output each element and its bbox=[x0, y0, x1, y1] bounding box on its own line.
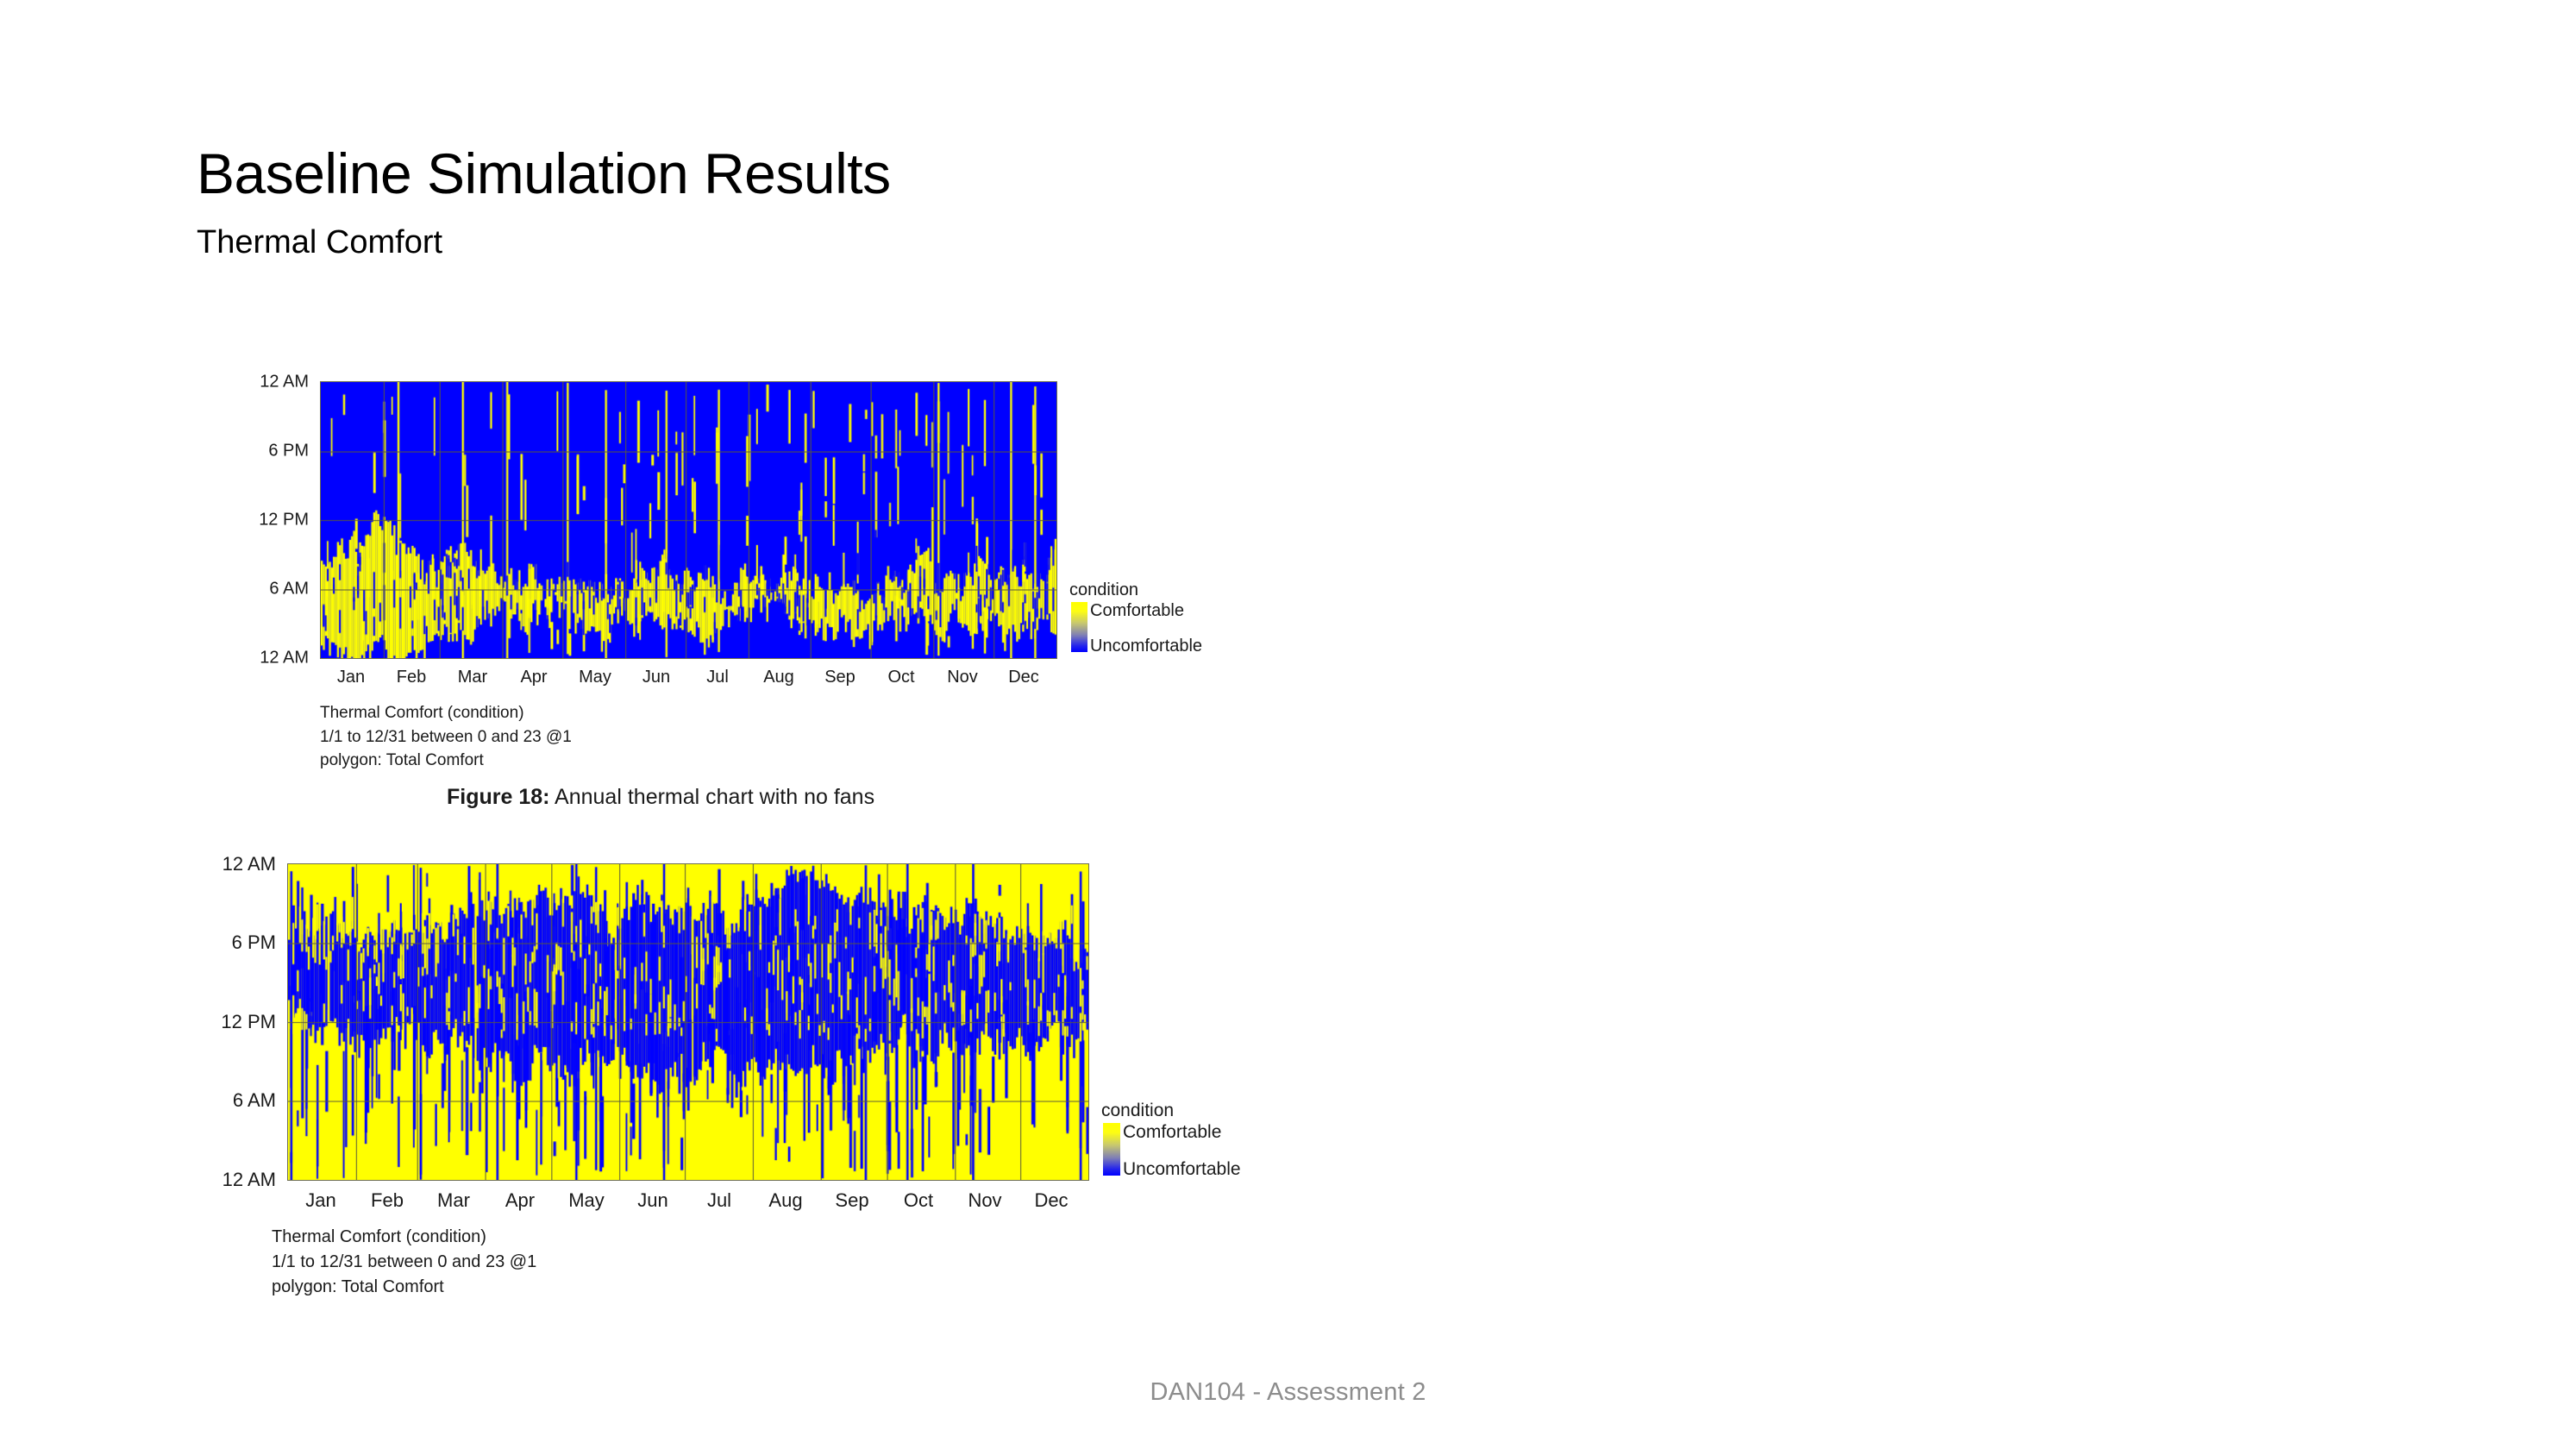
chart2-plot-area[interactable] bbox=[287, 863, 1089, 1181]
chart1-legend-label-comfortable: Comfortable bbox=[1090, 601, 1184, 621]
chart1-x-tick-jul: Jul bbox=[706, 668, 729, 687]
chart2-x-tick-dec: Dec bbox=[1034, 1189, 1068, 1212]
chart1-x-tick-apr: Apr bbox=[520, 668, 547, 687]
chart1-y-axis: 12 AM 6 PM 12 PM 6 AM 12 AM bbox=[197, 367, 309, 651]
chart2-x-tick-oct: Oct bbox=[904, 1189, 933, 1212]
chart1-legend: condition Comfortable Uncomfortable bbox=[1069, 580, 1268, 675]
chart1-legend-label-uncomfortable: Uncomfortable bbox=[1090, 637, 1202, 656]
chart2-legend-label-comfortable: Comfortable bbox=[1123, 1122, 1221, 1143]
chart1-x-tick-aug: Aug bbox=[763, 668, 794, 687]
figure-annual-thermal-with-fans: 12 AM 6 PM 12 PM 6 AM 12 AM Jan Feb Mar … bbox=[181, 845, 1371, 1294]
chart2-y-tick-3: 6 AM bbox=[233, 1089, 276, 1112]
figure-caption-label: Figure 18: bbox=[447, 785, 549, 809]
chart2-x-tick-jun: Jun bbox=[637, 1189, 668, 1212]
chart2-x-tick-may: May bbox=[568, 1189, 605, 1212]
chart1-x-tick-feb: Feb bbox=[397, 668, 426, 687]
chart1-x-tick-jun: Jun bbox=[642, 668, 670, 687]
chart1-x-tick-sep: Sep bbox=[824, 668, 856, 687]
slide-footer: DAN104 - Assessment 2 bbox=[0, 1378, 2576, 1407]
chart2-x-tick-jul: Jul bbox=[707, 1189, 731, 1212]
chart2-y-axis: 12 AM 6 PM 12 PM 6 AM 12 AM bbox=[181, 845, 276, 1164]
chart2-x-tick-sep: Sep bbox=[835, 1189, 868, 1212]
chart1-y-tick-4: 12 AM bbox=[260, 649, 309, 668]
page-subtitle: Thermal Comfort bbox=[197, 226, 442, 259]
chart2-legend-title: condition bbox=[1101, 1101, 1174, 1121]
chart2-y-tick-1: 6 PM bbox=[232, 931, 276, 954]
figure-caption-18: Figure 18: Annual thermal chart with no … bbox=[447, 785, 874, 810]
chart2-x-tick-feb: Feb bbox=[371, 1189, 404, 1212]
chart2-y-tick-2: 12 PM bbox=[221, 1011, 276, 1033]
chart1-y-tick-0: 12 AM bbox=[260, 373, 309, 392]
chart2-y-tick-4: 12 AM bbox=[223, 1169, 276, 1191]
chart1-x-tick-dec: Dec bbox=[1008, 668, 1039, 687]
chart2-x-tick-aug: Aug bbox=[768, 1189, 802, 1212]
chart1-y-tick-3: 6 AM bbox=[269, 580, 309, 599]
figure-caption-text: Annual thermal chart with no fans bbox=[549, 785, 874, 809]
chart2-x-tick-jan: Jan bbox=[305, 1189, 335, 1212]
chart2-legend: condition Comfortable Uncomfortable bbox=[1101, 1101, 1317, 1200]
figure-annual-thermal-no-fans: 12 AM 6 PM 12 PM 6 AM 12 AM Jan Feb Mar … bbox=[197, 367, 1318, 763]
chart1-x-tick-jan: Jan bbox=[337, 668, 365, 687]
chart2-footnote: Thermal Comfort (condition) 1/1 to 12/31… bbox=[272, 1225, 536, 1300]
chart2-x-tick-mar: Mar bbox=[437, 1189, 470, 1212]
chart1-legend-gradient-bar bbox=[1071, 602, 1087, 652]
chart2-x-tick-nov: Nov bbox=[968, 1189, 1001, 1212]
page-title: Baseline Simulation Results bbox=[197, 145, 891, 202]
chart2-legend-gradient-bar bbox=[1103, 1123, 1120, 1176]
chart1-heatmap-canvas bbox=[321, 382, 1056, 658]
chart2-x-axis: Jan Feb Mar Apr May Jun Jul Aug Sep Oct … bbox=[287, 1189, 1089, 1217]
chart2-legend-label-uncomfortable: Uncomfortable bbox=[1123, 1159, 1241, 1180]
chart2-y-tick-0: 12 AM bbox=[223, 853, 276, 875]
chart1-y-tick-1: 6 PM bbox=[268, 442, 309, 461]
chart1-legend-title: condition bbox=[1069, 580, 1138, 600]
chart2-x-tick-apr: Apr bbox=[505, 1189, 535, 1212]
chart2-heatmap-canvas bbox=[288, 864, 1088, 1180]
chart1-x-tick-oct: Oct bbox=[887, 668, 914, 687]
chart1-y-tick-2: 12 PM bbox=[259, 511, 309, 530]
chart1-x-tick-mar: Mar bbox=[458, 668, 487, 687]
chart1-x-tick-nov: Nov bbox=[947, 668, 978, 687]
chart1-footnote: Thermal Comfort (condition) 1/1 to 12/31… bbox=[320, 701, 572, 773]
chart1-x-axis: Jan Feb Mar Apr May Jun Jul Aug Sep Oct … bbox=[320, 668, 1057, 693]
chart1-x-tick-may: May bbox=[579, 668, 611, 687]
chart1-plot-area[interactable] bbox=[320, 381, 1057, 659]
